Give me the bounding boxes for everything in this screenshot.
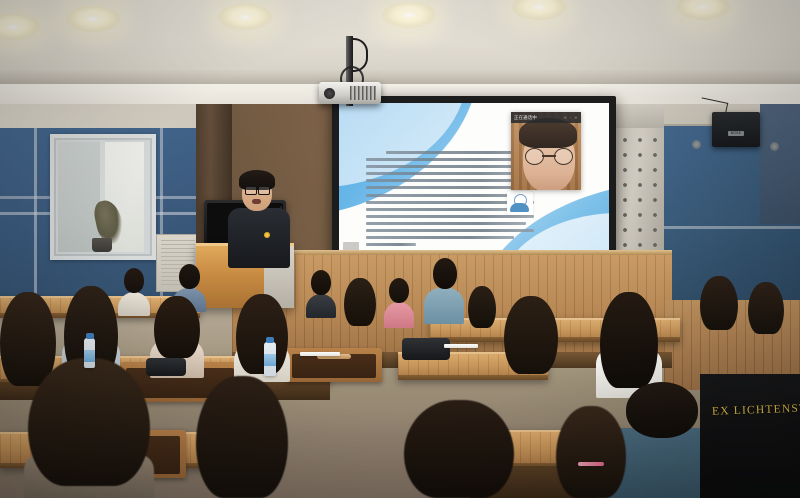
video-call-overlay[interactable]: 正在通话中 « · » — [511, 112, 581, 190]
slide-text-line — [366, 179, 534, 182]
bottle-cap — [266, 337, 274, 343]
avatar-body — [510, 203, 529, 212]
person-head — [433, 258, 457, 289]
window-pane-left — [58, 142, 100, 252]
person-hair — [700, 276, 738, 330]
audience-member — [748, 282, 784, 334]
audience-member — [700, 374, 800, 498]
ceiling-projector — [319, 82, 381, 104]
audience-member — [596, 292, 662, 396]
person-head — [179, 264, 200, 289]
video-call-titlebar[interactable]: 正在通话中 « · » — [511, 112, 581, 123]
person-hair — [344, 278, 376, 326]
slide-text-line — [366, 236, 514, 239]
glasses-bridge — [542, 155, 556, 157]
backpack — [402, 338, 450, 360]
audience-member — [468, 286, 496, 328]
projection-screen: 正在通话中 « · » — [332, 96, 616, 274]
video-window-controls[interactable]: « · » — [564, 115, 578, 120]
speaker-mount-bracket — [770, 142, 779, 151]
person-hair — [468, 286, 496, 328]
slide-text-line — [366, 165, 534, 168]
audience-member — [556, 406, 626, 498]
water-bottle — [84, 338, 95, 368]
person-head — [124, 268, 144, 293]
audience-member — [306, 270, 336, 316]
slide-text-line — [366, 243, 416, 246]
person-torso — [424, 288, 464, 324]
slide-text-line — [366, 172, 526, 175]
user-avatar-icon — [507, 191, 533, 215]
water-bottle — [264, 342, 276, 376]
pink-pen — [578, 462, 604, 466]
paneling-trim — [232, 250, 672, 255]
person-hair — [600, 292, 658, 388]
speaker-brand-label: BOSE — [728, 131, 744, 136]
person-torso — [306, 294, 336, 318]
person-head — [389, 278, 409, 303]
audience-member — [344, 276, 376, 326]
ceiling-round-light — [66, 6, 120, 32]
presenter-speaking — [226, 170, 292, 266]
ceiling-lip — [0, 72, 800, 84]
ceiling-round-light — [218, 4, 272, 30]
speaker-mount-bracket — [692, 140, 701, 149]
glasses-lens-left — [245, 186, 257, 195]
far-right-wall — [760, 104, 800, 224]
backpack — [146, 358, 186, 376]
person-hair — [504, 296, 558, 374]
person-head — [311, 270, 331, 295]
person-head — [626, 382, 698, 438]
audience-member — [424, 258, 464, 322]
notebook-paper — [300, 352, 340, 356]
plant-pot — [92, 238, 112, 252]
person-hair — [196, 376, 288, 498]
person-hair — [236, 294, 288, 374]
audience-member — [118, 268, 150, 314]
audience-member — [384, 278, 414, 326]
audience-member — [504, 296, 558, 376]
person-hair — [556, 406, 626, 498]
lapel-pin-icon — [264, 232, 270, 238]
person-torso — [700, 374, 800, 498]
person-torso — [118, 292, 150, 316]
wall-mounted-speaker: BOSE — [712, 112, 760, 147]
projector-vent — [350, 86, 376, 100]
projector-lens-icon — [324, 88, 335, 99]
slide-text-line — [366, 222, 526, 225]
person-hair — [404, 400, 514, 498]
lecture-hall-photo: BOSE — [0, 0, 800, 498]
slide-text-line — [366, 194, 526, 197]
person-hair — [748, 282, 784, 334]
audience-member — [404, 400, 514, 498]
glasses-lens-right — [258, 186, 270, 195]
glasses-icon — [245, 186, 270, 193]
bottle-label — [264, 354, 276, 366]
slide-text-line — [366, 186, 534, 189]
slide-text-line — [366, 215, 534, 218]
slide-text-line — [366, 229, 534, 232]
person-hair — [154, 296, 200, 358]
audience-member — [700, 276, 738, 330]
bottle-cap — [86, 333, 94, 339]
audience-member — [234, 294, 290, 378]
bottle-label — [84, 350, 95, 362]
presenter-mouth — [252, 199, 261, 204]
presenter-torso — [228, 208, 290, 268]
person-torso — [384, 302, 414, 328]
person-hair — [28, 358, 150, 486]
slide-text-line — [366, 158, 534, 161]
ceiling-round-light — [382, 2, 436, 28]
wall-seam — [664, 226, 800, 229]
slide-text-line — [366, 208, 514, 211]
audience-member — [196, 376, 288, 498]
notebook-paper — [444, 344, 478, 348]
video-participant-name: 正在通话中 — [514, 115, 537, 121]
glasses-lens-right — [554, 148, 573, 165]
projected-slide: 正在通话中 « · » — [339, 103, 609, 267]
glasses-icon — [525, 148, 573, 163]
audience-member — [24, 358, 154, 498]
